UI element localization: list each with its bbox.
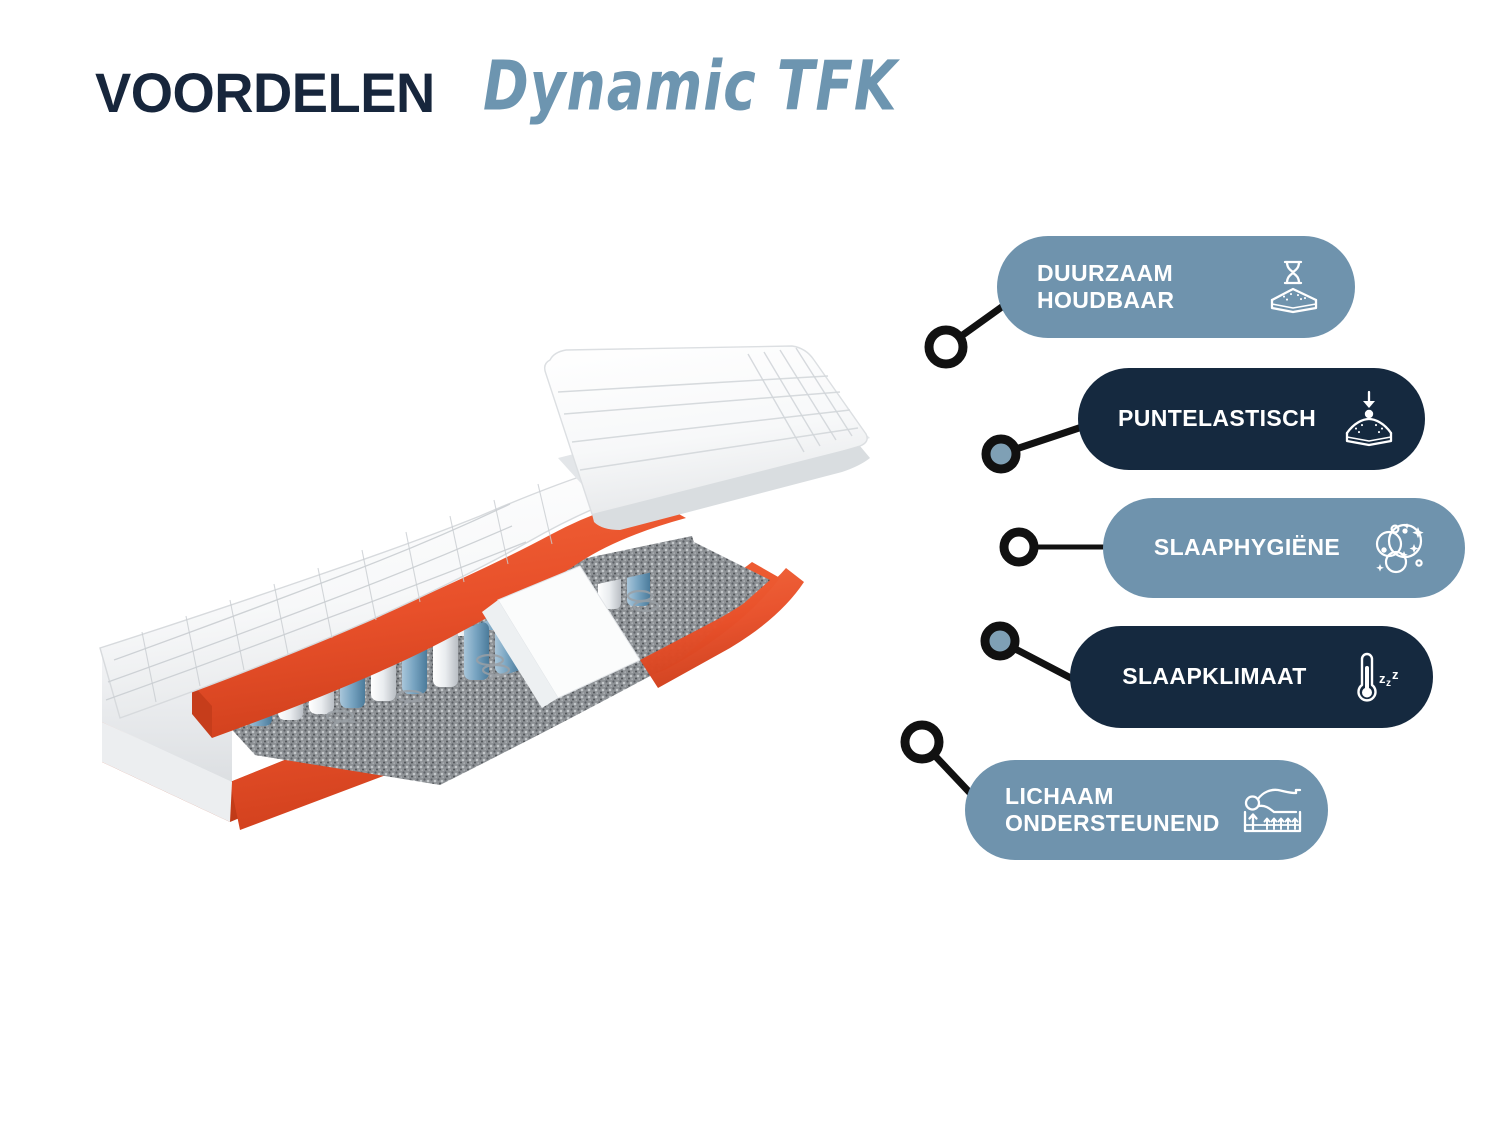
callout-slaaphygiene[interactable]: SLAAPHYGIËNE (1103, 498, 1465, 598)
callout-lichaam-ondersteunend[interactable]: LICHAAM ONDERSTEUNEND (965, 760, 1328, 860)
page-title: VOORDELEN Dynamic TFK (95, 58, 920, 126)
pressure-point-mattress-icon (1330, 387, 1404, 451)
cutaway-mattress-illustration (80, 330, 880, 870)
thermometer-zzz-icon: z z z (1333, 645, 1407, 709)
callout-puntelastisch[interactable]: PUNTELASTISCH (1078, 368, 1425, 470)
title-product-name: Dynamic TFK (483, 46, 898, 126)
mattress-head-section (545, 346, 870, 530)
hourglass-mattress-icon (1255, 255, 1329, 319)
callout-label: LICHAAM ONDERSTEUNEND (1005, 783, 1220, 837)
bubbles-sparkle-icon (1365, 516, 1439, 580)
svg-text:z: z (1386, 678, 1391, 689)
callout-slaapklimaat[interactable]: SLAAPKLIMAAT z z z (1070, 626, 1433, 728)
svg-text:z: z (1379, 671, 1386, 686)
callout-duurzaam-houdbaar[interactable]: DUURZAAM HOUDBAAR (997, 236, 1355, 338)
callout-label: SLAAPHYGIËNE (1143, 534, 1351, 561)
body-support-arrows-icon (1234, 778, 1308, 842)
leader-dot-slaaphygiene (1004, 532, 1034, 562)
leader-dot-slaapklimaat (985, 626, 1015, 656)
callout-label: PUNTELASTISCH (1118, 405, 1316, 432)
callout-label: DUURZAAM HOUDBAAR (1037, 260, 1241, 314)
leader-dot-lichaam (905, 725, 939, 759)
title-main: VOORDELEN (95, 60, 435, 125)
callout-label: SLAAPKLIMAAT (1110, 663, 1319, 690)
leader-dot-duurzaam (929, 330, 963, 364)
leader-dot-puntelastisch (986, 439, 1016, 469)
svg-text:z: z (1392, 667, 1399, 682)
